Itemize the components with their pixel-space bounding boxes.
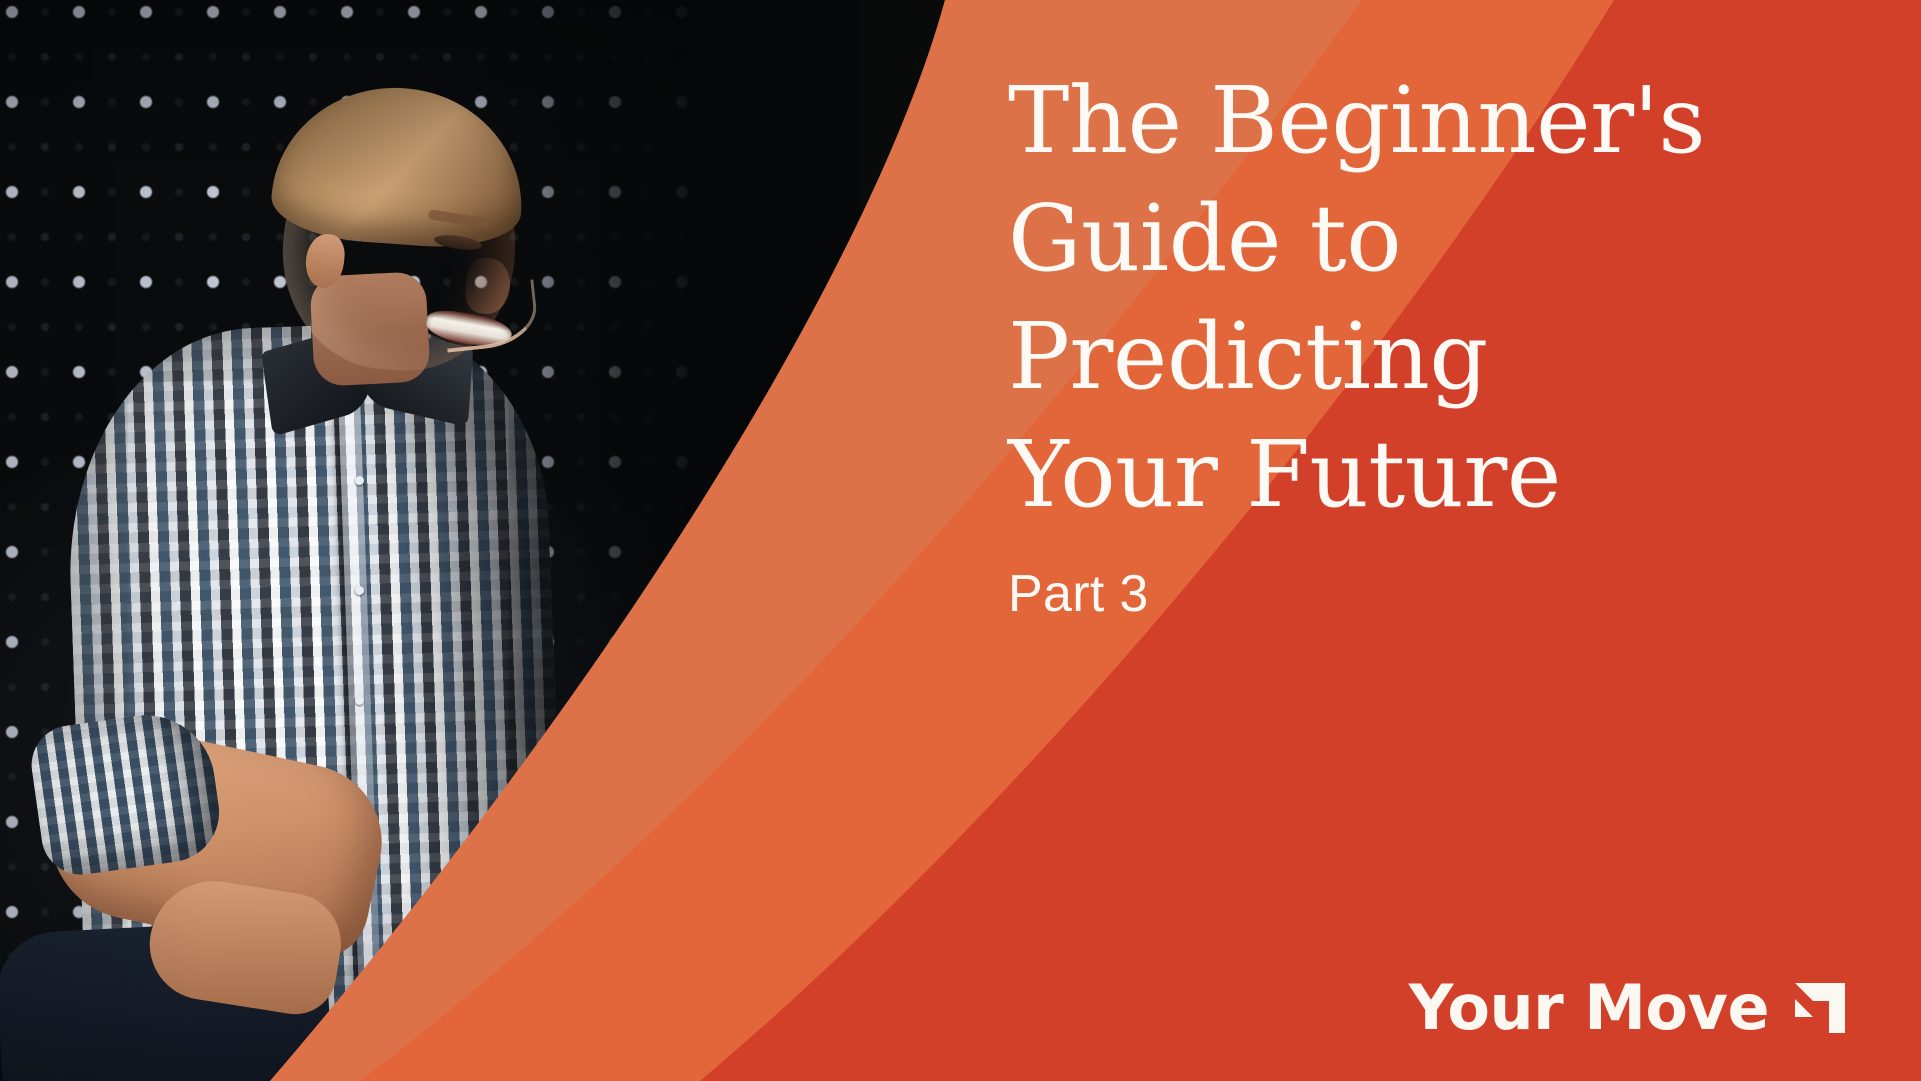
your-move-logo[interactable]: Your Move	[1409, 977, 1849, 1039]
page-title: The Beginner's Guide to Predicting Your …	[1008, 62, 1921, 534]
subtitle-part-label: Part 3	[1008, 564, 1921, 624]
logo-wordmark: Your Move	[1409, 977, 1769, 1039]
your-move-arrow-mark-icon	[1791, 979, 1849, 1037]
headline-block: The Beginner's Guide to Predicting Your …	[1008, 62, 1921, 624]
title-card: The Beginner's Guide to Predicting Your …	[0, 0, 1921, 1081]
